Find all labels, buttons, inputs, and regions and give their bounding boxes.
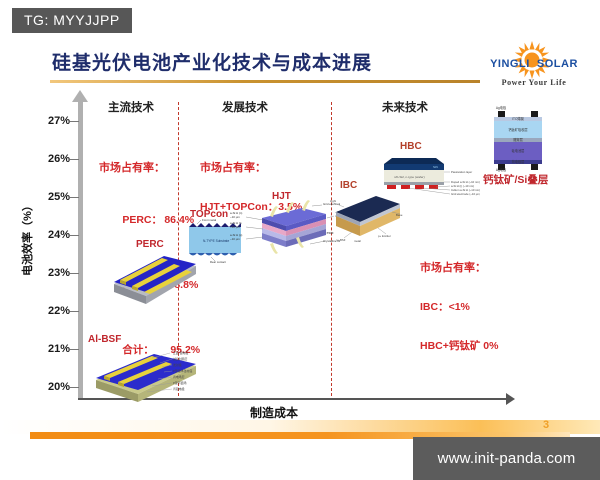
- y-axis-arrow-icon: [72, 90, 88, 102]
- annotation-3-header: 市场占有率：: [420, 262, 498, 275]
- column-header-mainstream: 主流技术: [108, 99, 154, 115]
- hjt-cell-diagram: a-Si:H (n) ~10 µm a-Si:H (i) ~10 µm a-Si…: [230, 200, 340, 260]
- chart-plot-area: 27% 26% 25% 24% 23% 22% 21% 20% 电池效率（%） …: [0, 0, 600, 480]
- svg-text:Front metal: Front metal: [202, 218, 217, 222]
- svg-text:正面 银电极: 正面 银电极: [173, 350, 188, 355]
- annotation-1-header: 市场占有率：: [99, 162, 200, 175]
- y-tick-mark-23: [70, 273, 79, 274]
- slide-canvas: 硅基光伏电池产业化技术与成本进展: [0, 0, 600, 480]
- svg-text:减反射膜层: 减反射膜层: [173, 356, 188, 361]
- svg-text:背电极层: 背电极层: [512, 159, 525, 164]
- svg-text:Rear contact: Rear contact: [210, 260, 226, 264]
- y-tick-mark-25: [70, 197, 79, 198]
- y-tick-mark-26: [70, 159, 79, 160]
- svg-text:P型晶体硅衬底: P型晶体硅衬底: [173, 368, 192, 373]
- x-axis-title: 制造成本: [250, 404, 298, 421]
- y-tick-mark-24: [70, 235, 79, 236]
- annotation-1-l1-key: PERC：: [122, 214, 164, 227]
- watermark-overlay: www.init-panda.com: [413, 437, 600, 480]
- svg-text:发射极: 发射极: [173, 362, 182, 367]
- device-label-albsf: Al-BSF: [88, 334, 121, 345]
- svg-text:Ag电极: Ag电极: [496, 105, 507, 110]
- svg-text:背电场层: 背电场层: [173, 374, 185, 379]
- hbc-cell-diagram: SiN n/b-Si2, n-type (wafer) Passivation …: [370, 152, 480, 200]
- svg-text:N-TYPE Substrate: N-TYPE Substrate: [203, 239, 229, 243]
- y-axis-line: [78, 100, 83, 400]
- annotation-2-header: 市场占有率：: [200, 162, 302, 175]
- svg-text:Base: Base: [396, 213, 403, 217]
- annotation-future-share: 市场占有率： IBC：<1% HBC+钙钛矿 0%: [420, 236, 498, 379]
- annotation-3-line-2: HBC+钙钛矿 0%: [420, 340, 498, 353]
- x-axis-arrow-icon: [506, 393, 515, 405]
- annotation-3-line-1: IBC：<1%: [420, 301, 498, 314]
- svg-text:metal: metal: [354, 239, 361, 243]
- svg-text:p+ Emitter: p+ Emitter: [378, 234, 391, 238]
- y-tick-label-20: 20%: [28, 381, 70, 393]
- svg-text:SiN: SiN: [433, 165, 438, 169]
- y-tick-mark-20: [70, 387, 79, 388]
- svg-text:~10 µm: ~10 µm: [230, 237, 240, 241]
- svg-text:硅电池层: 硅电池层: [512, 148, 525, 153]
- svg-text:钙钛矿吸收层: 钙钛矿吸收层: [508, 127, 527, 132]
- svg-text:P型背面场: P型背面场: [173, 380, 187, 385]
- perovskite-tandem-diagram: Ag电极 ITO薄膜 钙钛矿吸收层 隧穿层 硅电池层 背电极层 Ag电极: [470, 104, 565, 172]
- svg-text:Grid electrode (~10 µm): Grid electrode (~10 µm): [451, 192, 480, 196]
- device-label-perovskite: 钙钛矿/Si叠层: [483, 172, 548, 187]
- svg-text:n+ BSF: n+ BSF: [336, 238, 346, 242]
- device-label-perc: PERC: [136, 239, 164, 250]
- svg-text:背铝电极: 背铝电极: [173, 386, 185, 391]
- column-header-future: 未来技术: [382, 99, 428, 115]
- device-label-hbc: HBC: [400, 141, 422, 152]
- svg-text:~10 µm: ~10 µm: [230, 215, 240, 219]
- y-axis-title: 电池效率（%）: [19, 188, 35, 288]
- svg-text:隧穿层: 隧穿层: [513, 137, 523, 142]
- y-tick-label-21: 21%: [28, 343, 70, 355]
- y-tick-label-22: 22%: [28, 305, 70, 317]
- svg-text:Light: Light: [330, 199, 336, 203]
- column-header-developing: 发展技术: [222, 99, 268, 115]
- svg-text:ITO薄膜: ITO薄膜: [512, 116, 524, 121]
- svg-text:n/b-Si2, n-type (wafer): n/b-Si2, n-type (wafer): [394, 175, 425, 179]
- tg-tag-overlay: TG: MYYJJPP: [12, 8, 132, 33]
- albsf-cell-diagram: 正面 银电极 减反射膜层 发射极 P型晶体硅衬底 背电场层 P型背面场 背铝电极: [92, 346, 207, 404]
- page-number: 3: [543, 419, 549, 431]
- y-tick-mark-22: [70, 311, 79, 312]
- svg-text:~10 µm: ~10 µm: [230, 225, 240, 229]
- y-tick-label-26: 26%: [28, 153, 70, 165]
- y-tick-mark-21: [70, 349, 79, 350]
- y-tick-mark-27: [70, 121, 79, 122]
- y-tick-label-27: 27%: [28, 115, 70, 127]
